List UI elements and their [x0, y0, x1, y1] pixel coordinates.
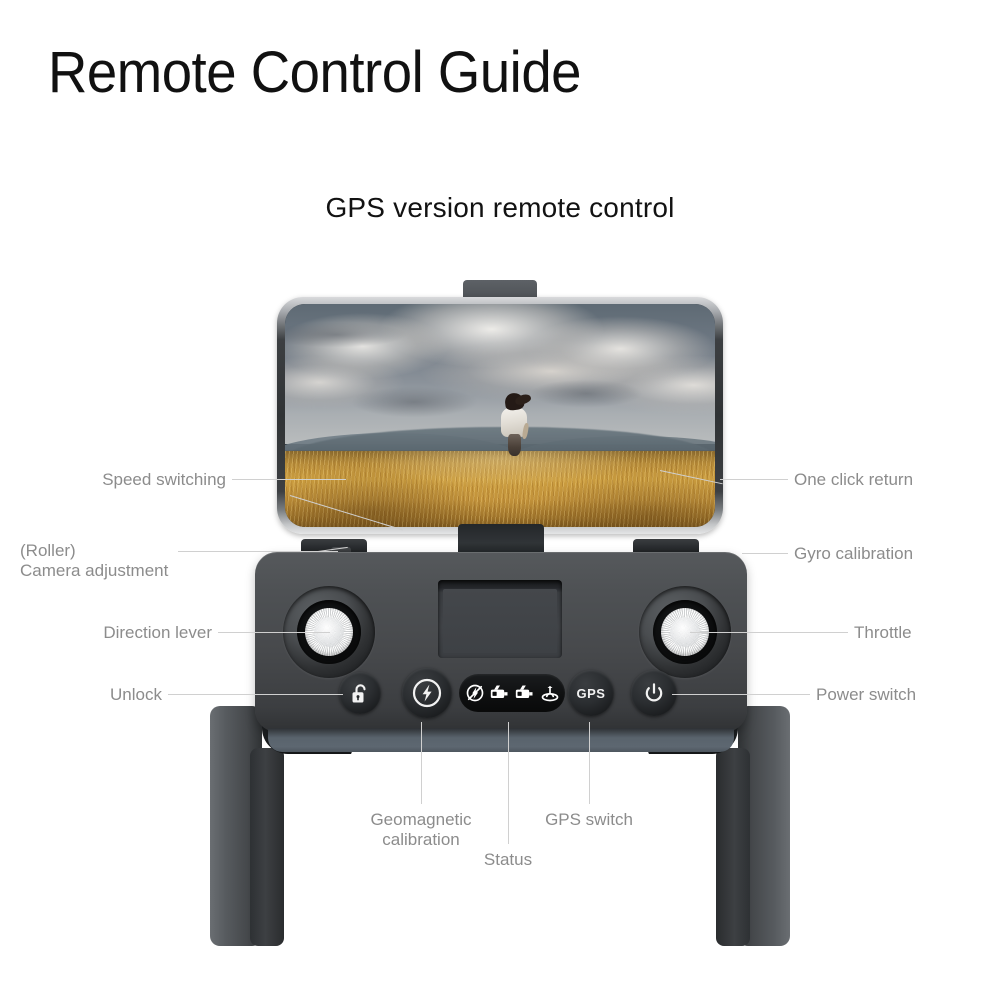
label-unlock: Unlock	[20, 685, 162, 705]
label-throttle: Throttle	[854, 623, 912, 643]
grip-left-inner	[250, 748, 284, 946]
label-camera-adjustment-line1: (Roller)	[20, 541, 172, 561]
label-camera-adjustment: (Roller) Camera adjustment	[20, 541, 172, 581]
power-icon	[642, 681, 666, 705]
leader-status	[508, 722, 509, 844]
leader-camera-adjustment	[178, 551, 338, 552]
leader-unlock	[168, 694, 343, 695]
drone-battery-icon	[490, 683, 510, 703]
leader-one-click-return	[720, 479, 788, 480]
label-geomagnetic-calibration-line1: Geomagnetic	[351, 810, 491, 830]
photo-person-legs	[508, 434, 521, 456]
status-indicator-strip	[459, 674, 565, 712]
label-one-click-return: One click return	[794, 470, 913, 490]
satellite-signal-icon	[540, 683, 560, 703]
label-status: Status	[448, 850, 568, 870]
label-geomagnetic-calibration: Geomagnetic calibration	[351, 810, 491, 850]
leader-direction-lever	[218, 632, 330, 633]
leader-power-switch	[672, 694, 810, 695]
controller-bottom-strip	[268, 728, 734, 752]
phone-screen	[285, 304, 715, 527]
label-gyro-calibration: Gyro calibration	[794, 544, 913, 564]
geomagnetic-calibration-button[interactable]	[402, 668, 452, 718]
power-switch-button[interactable]	[631, 670, 677, 716]
label-geomagnetic-calibration-line2: calibration	[351, 830, 491, 850]
leader-throttle	[690, 632, 848, 633]
leader-gps-switch	[589, 722, 590, 804]
label-speed-switching: Speed switching	[20, 470, 226, 490]
unlock-button[interactable]	[339, 672, 381, 714]
gps-button-label: GPS	[577, 686, 606, 701]
open-padlock-icon	[351, 683, 370, 704]
no-signal-icon	[465, 683, 485, 703]
leader-speed-switching	[232, 479, 346, 480]
label-gps-switch: GPS switch	[529, 810, 649, 830]
leader-gyro-calibration	[742, 553, 788, 554]
gps-switch-button[interactable]: GPS	[568, 670, 614, 716]
lightning-bolt-circle-icon	[411, 677, 443, 709]
mounted-phone	[277, 297, 723, 534]
device-diagram: GPS Speed switching (Roller) Camera adju…	[0, 0, 1000, 1000]
label-direction-lever: Direction lever	[20, 623, 212, 643]
grip-right-inner	[716, 748, 750, 946]
label-camera-adjustment-line2: Camera adjustment	[20, 561, 172, 581]
one-click-return-button[interactable]	[633, 539, 699, 552]
controller-lcd-screen	[438, 580, 562, 658]
leader-geomagnetic-calibration	[421, 722, 422, 804]
remote-battery-icon	[515, 683, 535, 703]
label-power-switch: Power switch	[816, 685, 916, 705]
photo-person	[498, 393, 532, 496]
